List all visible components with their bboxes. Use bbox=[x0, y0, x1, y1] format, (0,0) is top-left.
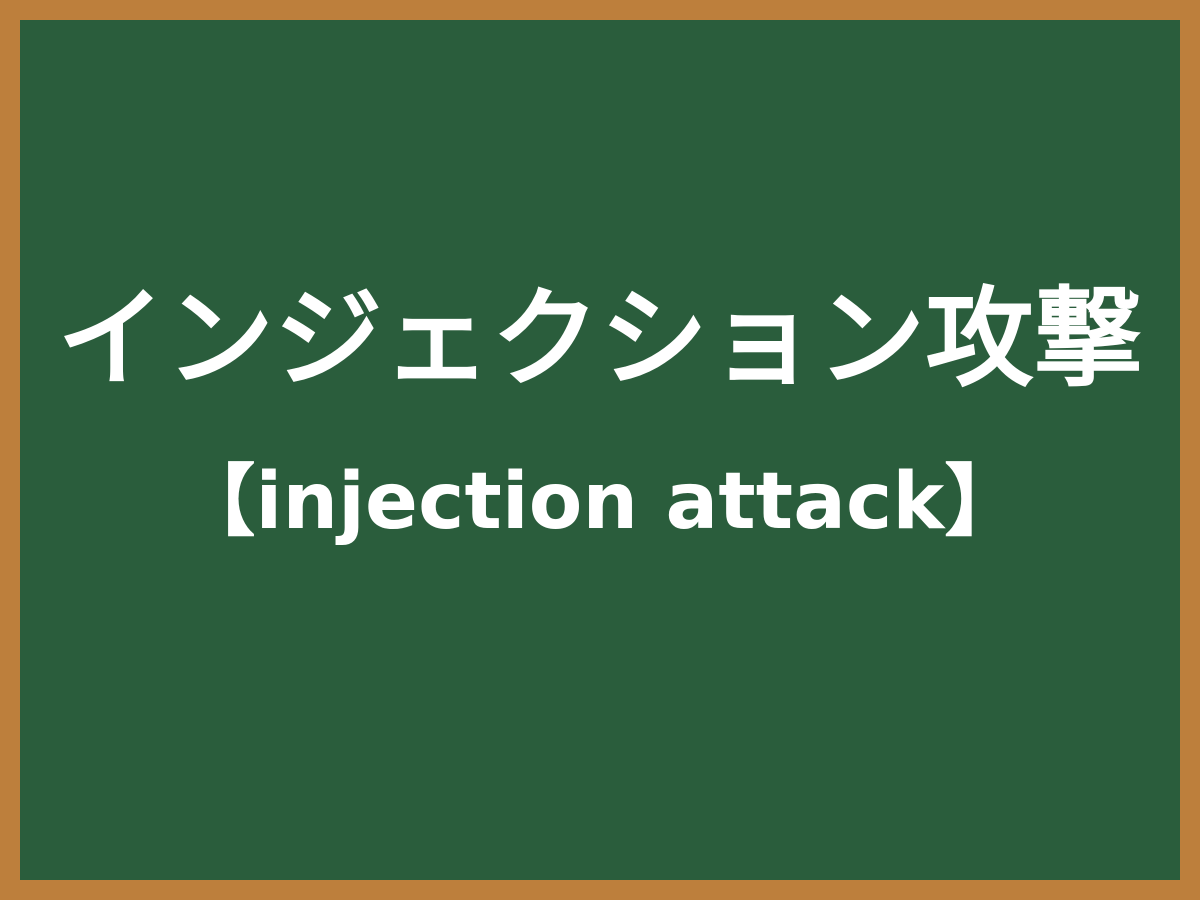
subtitle-english-term: 【injection attack】 bbox=[177, 460, 1022, 546]
page-title: インジェクション攻撃 bbox=[57, 282, 1142, 399]
chalkboard-panel: インジェクション攻撃 【injection attack】 bbox=[20, 20, 1180, 880]
term-card: インジェクション攻撃 【injection attack】 bbox=[0, 0, 1200, 900]
